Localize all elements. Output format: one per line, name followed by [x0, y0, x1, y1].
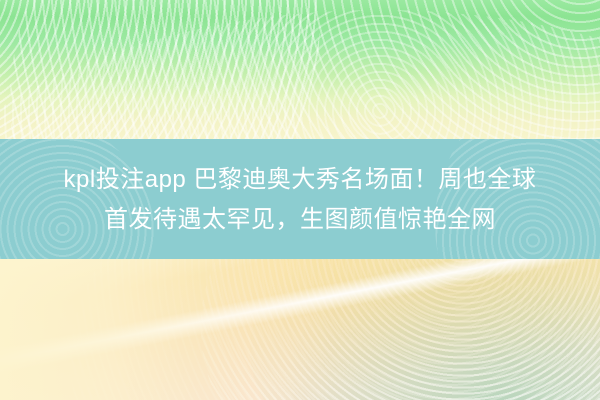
arc-pattern-top-left-icon [0, 0, 352, 140]
headline-text: kpl投注app 巴黎迪奥大秀名场面！周也全球 首发待遇太罕见，生图颜值惊艳全网 [0, 139, 600, 260]
headline-band: kpl投注app 巴黎迪奥大秀名场面！周也全球 首发待遇太罕见，生图颜值惊艳全网 [0, 139, 600, 260]
bottom-left-fade-overlay [0, 259, 600, 400]
headline-line-2: 首发待遇太罕见，生图颜值惊艳全网 [104, 200, 496, 240]
promo-banner: kpl投注app 巴黎迪奥大秀名场面！周也全球 首发待遇太罕见，生图颜值惊艳全网 [0, 0, 600, 400]
headline-line-1: kpl投注app 巴黎迪奥大秀名场面！周也全球 [64, 160, 537, 200]
top-gradient-band [0, 0, 600, 140]
bottom-gradient-band [0, 259, 600, 400]
